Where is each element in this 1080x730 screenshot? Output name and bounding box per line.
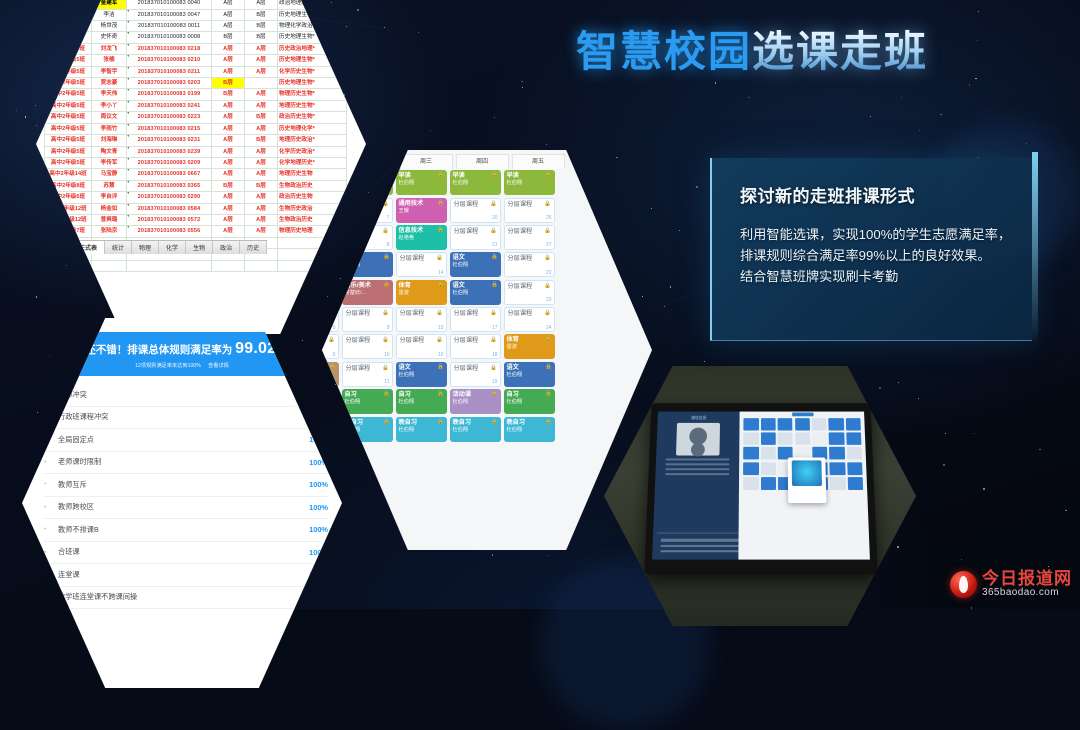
cell-id[interactable]: 201837010100083 0209 — [127, 157, 212, 168]
cell-math-level[interactable]: A层 — [212, 112, 245, 123]
rule-label: 连堂课 — [58, 570, 309, 580]
timetable-cell[interactable]: 自习杜伯翔🔒 — [504, 389, 555, 414]
cell-math-level[interactable]: A层 — [212, 214, 245, 225]
timetable-row: 🔒分层课程🔒11语文杜伯翔🔒分层课程🔒19语文杜伯翔🔒 — [322, 361, 652, 388]
cell-english-level[interactable]: A层 — [245, 0, 278, 9]
lock-icon[interactable]: 🔒 — [544, 283, 551, 289]
lock-icon[interactable]: 🔒 — [383, 282, 390, 288]
lock-icon[interactable]: 🔒 — [490, 337, 497, 343]
lock-icon[interactable]: 🔒 — [491, 419, 498, 425]
cell-id[interactable]: 201837010100083 0218 — [127, 43, 212, 54]
cell-english-level[interactable]: B层 — [245, 135, 278, 146]
student-photo-card — [829, 433, 844, 445]
timetable-cell[interactable]: 语文杜伯翔🔒 — [504, 362, 555, 387]
star-dot — [36, 125, 38, 127]
cell-math-level[interactable]: A层 — [212, 100, 245, 111]
timetable-cell-index: 14 — [438, 270, 444, 276]
bullet-icon: • — [44, 459, 58, 466]
timetable-cell[interactable]: 体育雷波🔒 — [504, 334, 555, 359]
lock-icon[interactable]: 🔒 — [383, 391, 390, 397]
satisfaction-subnote: 12项规则满足率未达到100% — [135, 363, 201, 369]
cell-math-level[interactable]: A层 — [212, 203, 245, 214]
cell-name[interactable]: 李雨竹 — [92, 123, 127, 134]
cell-id[interactable]: 201837010100083 0199 — [127, 89, 212, 100]
list-item[interactable]: •行政班课程冲突100% — [44, 407, 328, 430]
cell-english-level[interactable]: A层 — [245, 89, 278, 100]
lock-icon[interactable]: 🔒 — [490, 228, 497, 234]
bullet-icon: • — [44, 481, 58, 488]
timetable-cell[interactable]: 通用技术王娥🔒 — [396, 198, 447, 223]
cell-english-level[interactable]: A层 — [245, 55, 278, 66]
lock-icon[interactable]: 🔒 — [545, 336, 552, 342]
sheet-tab-生物[interactable]: 生物 — [186, 241, 213, 254]
cell-english-level[interactable]: B层 — [245, 112, 278, 123]
cell-id[interactable]: 201837010100083 0667 — [127, 169, 212, 180]
timetable-row: 晚自习杜伯翔🔒晚自习杜伯翔🔒晚自习杜伯翔🔒晚自习杜伯翔🔒晚自习杜伯翔🔒 — [322, 415, 652, 442]
cell-id[interactable]: 201837010100083 0241 — [127, 100, 212, 111]
table-row[interactable]: 高中2年级5班李传军201837010100083 0209A层A层化学地理历史… — [45, 157, 347, 168]
table-row[interactable]: 高中2年级8班苏慧201837010100083 0365B层B层生物政治历史 — [45, 180, 347, 191]
timetable-cell-teacher: 常楚欣/... — [345, 290, 390, 297]
cell-subject-selection[interactable]: 化学历史政治* — [278, 146, 347, 157]
timetable-cell-teacher: 雷波 — [399, 290, 444, 297]
student-detail-popup — [788, 457, 827, 503]
timetable-cell[interactable]: 早读杜伯翔🔒 — [396, 170, 447, 195]
timetable-cell[interactable]: 体育雷波🔒 — [396, 280, 447, 305]
cell-name[interactable]: 张楠 — [92, 55, 127, 66]
rule-label: 合班课 — [58, 547, 309, 557]
cell-name[interactable]: 杨世茂 — [92, 21, 127, 32]
timetable-cell-teacher: 杜伯翔 — [507, 427, 552, 434]
timetable-cell[interactable]: 分层课程🔒15 — [396, 307, 447, 332]
cell-id[interactable]: 201837010100083 0556 — [127, 226, 212, 237]
cell-name[interactable]: 张陆京 — [92, 226, 127, 237]
list-item[interactable]: •连堂课100% — [44, 564, 328, 587]
smart-board-screen: 课程信息 — [652, 412, 870, 560]
student-photo-card — [761, 477, 776, 490]
cell-class[interactable]: 高中2年级5班 — [45, 112, 92, 123]
panel-heading: 探讨新的走班排课形式 — [740, 182, 915, 207]
cell-math-level[interactable]: A层 — [212, 43, 245, 54]
list-item[interactable]: •教师冲突100% — [44, 384, 328, 407]
lock-icon[interactable]: 🔒 — [436, 310, 443, 316]
cell-math-level[interactable]: A层 — [212, 135, 245, 146]
cell-math-level[interactable]: A层 — [212, 146, 245, 157]
cell-english-level[interactable]: A层 — [245, 169, 278, 180]
star-dot — [546, 144, 547, 145]
lock-icon[interactable]: 🔒 — [491, 391, 498, 397]
timetable-cell[interactable]: 分层课程🔒18 — [450, 334, 501, 359]
cell-name[interactable]: 杨金如 — [92, 203, 127, 214]
student-photo-card — [846, 433, 861, 445]
student-photo-card — [744, 433, 759, 445]
cell-english-level[interactable]: A层 — [245, 214, 278, 225]
lock-icon[interactable]: 🔒 — [437, 172, 444, 178]
spreadsheet-body[interactable]: 高一年级1班宋旭201837010100083 0023A层A层历史地理生物*高… — [45, 0, 347, 271]
student-photo-card — [761, 418, 776, 430]
cell-subject-selection[interactable]: 地理历史生物* — [278, 100, 347, 111]
timetable-cell[interactable]: 分层课程🔒10 — [342, 334, 393, 359]
cell-empty[interactable] — [92, 260, 127, 271]
table-row[interactable]: 高中2年级7班张陆京201837010100083 0556A层A层物理历史地理 — [45, 226, 347, 237]
cell-math-level[interactable]: B层 — [212, 78, 245, 89]
cell-english-level[interactable] — [245, 78, 278, 89]
list-item[interactable]: •教师不排课B100% — [44, 519, 328, 542]
cell-subject-selection[interactable]: 化学地理历史* — [278, 157, 347, 168]
student-photo-card — [847, 462, 863, 475]
cell-id[interactable]: 201837010100083 0239 — [127, 146, 212, 157]
table-row[interactable]: 高中2年级5班周议文201837010100083 0223A层B层政治历史生物… — [45, 112, 347, 123]
lock-icon[interactable]: 🔒 — [382, 228, 389, 234]
timetable-cell[interactable]: 语文杜伯翔🔒 — [450, 280, 501, 305]
cell-id[interactable]: 201837010100083 0215 — [127, 123, 212, 134]
cell-english-level[interactable]: A层 — [245, 43, 278, 54]
cell-id[interactable]: 201837010100083 0008 — [127, 32, 212, 43]
timetable-cell-teacher: 杜伯翔 — [453, 180, 498, 187]
rule-value: 100% — [309, 525, 328, 534]
roster-tab-header — [792, 413, 813, 417]
cell-subject-selection[interactable]: 政治历史生物* — [278, 112, 347, 123]
cell-class[interactable]: 高中2年级5班 — [45, 135, 92, 146]
rule-value: 100% — [309, 503, 328, 512]
cell-english-level[interactable]: A层 — [245, 123, 278, 134]
timetable-cell[interactable]: 分层课程🔒17 — [450, 307, 501, 332]
lock-icon[interactable]: 🔒 — [437, 282, 444, 288]
cell-id[interactable]: 201837010100083 0210 — [127, 55, 212, 66]
cell-math-level[interactable]: A层 — [212, 9, 245, 20]
cell-empty[interactable] — [212, 260, 245, 271]
cell-subject-selection[interactable]: 地理历史生物 — [278, 169, 347, 180]
spreadsheet-table[interactable]: 科、数学英语选层 班级 姓名 学籍号/教职工编号 数学分层 英语分层 6选3 高… — [44, 0, 347, 272]
cell-name[interactable]: 曾爽璐 — [92, 214, 127, 225]
sheet-tab-统计[interactable]: 统计 — [105, 241, 132, 254]
timetable-cell-index: 11 — [384, 379, 389, 385]
cell-english-level[interactable]: B层 — [245, 32, 278, 43]
cell-subject-selection[interactable]: 历史地理生物* — [278, 78, 347, 89]
lock-icon[interactable]: 🔒 — [545, 391, 552, 397]
timetable-cell-teacher: 雷波 — [507, 344, 552, 351]
lock-icon[interactable]: 🔒 — [436, 337, 443, 343]
table-row[interactable]: 高一年级1班史怀奇201837010100083 0008B层B层历史地理生物* — [45, 32, 347, 43]
table-row[interactable]: 高中2年级5班李天伟201837010100083 0199B层A层物理历史生物… — [45, 89, 347, 100]
cell-math-level[interactable]: A层 — [212, 66, 245, 77]
timetable-cell[interactable]: 分层课程🔒9 — [342, 307, 393, 332]
cell-english-level[interactable]: A层 — [245, 192, 278, 203]
timetable-cell[interactable]: 分层课程🔒11 — [342, 362, 393, 387]
rule-label: 教学班连堂课不跨课间操 — [58, 592, 309, 602]
spreadsheet[interactable]: 科、数学英语选层 班级 姓名 学籍号/教职工编号 数学分层 英语分层 6选3 高… — [44, 0, 366, 272]
lock-icon[interactable]: 🔒 — [437, 419, 444, 425]
cell-english-level[interactable]: B层 — [245, 21, 278, 32]
timetable-cell-teacher: 杜伯翔 — [453, 427, 498, 434]
cell-name[interactable]: 李天伟 — [92, 89, 127, 100]
rule-label: 教师跨校区 — [58, 502, 309, 512]
cell-id[interactable]: 201837010100083 0584 — [127, 203, 212, 214]
cell-math-level[interactable]: A层 — [212, 123, 245, 134]
cell-id[interactable]: 201837010100083 0011 — [127, 21, 212, 32]
rule-label: 教师冲突 — [58, 390, 309, 400]
star-dot — [670, 286, 672, 288]
table-row[interactable]: 高中2年级12班杨金如201837010100083 0584A层A层生物历史政… — [45, 203, 347, 214]
table-row[interactable]: 高中2年级5班李小丫201837010100083 0241A层A层地理历史生物… — [45, 100, 347, 111]
cell-math-level[interactable]: A层 — [212, 192, 245, 203]
timetable-cell-index: 23 — [546, 297, 552, 303]
timetable-cell[interactable]: 早读杜伯翔🔒 — [450, 170, 501, 195]
satisfaction-rule-list[interactable]: •教师冲突100%•行政班课程冲突100%•全局固定点100%•老师课时限制10… — [44, 384, 328, 609]
smart-board-screen-title: 课程信息 — [661, 415, 736, 421]
lock-icon[interactable]: 🔒 — [437, 227, 444, 233]
cell-english-level[interactable]: A层 — [245, 157, 278, 168]
lock-icon[interactable]: 🔒 — [382, 365, 389, 371]
timetable-cell-index: 8 — [387, 242, 390, 248]
lock-icon[interactable]: 🔒 — [491, 172, 498, 178]
cell-name[interactable]: 马宝静 — [92, 169, 127, 180]
cell-name[interactable]: 史怀奇 — [92, 32, 127, 43]
list-item[interactable]: •老师课时限制100% — [44, 452, 328, 475]
table-row[interactable]: 高中2年级5班张楠201837010100083 0210A层A层历史地理生物* — [45, 55, 347, 66]
rule-label: 行政班课程冲突 — [58, 412, 309, 422]
table-row[interactable]: 高中2年级5班李雨竹201837010100083 0215A层A层历史地理化学… — [45, 123, 347, 134]
watermark-flame-icon — [950, 571, 977, 598]
timetable-cell[interactable]: 分层课程🔒20 — [450, 198, 501, 223]
bullet-icon: • — [44, 504, 58, 511]
lock-icon[interactable]: 🔒 — [437, 364, 444, 370]
lock-icon[interactable]: 🔒 — [545, 364, 552, 370]
star-dot — [977, 40, 978, 41]
satisfaction-detail-link[interactable]: 查看详情 — [208, 363, 229, 369]
list-item[interactable]: •教师互斥100% — [44, 474, 328, 497]
lock-icon[interactable]: 🔒 — [382, 310, 389, 316]
table-row[interactable]: 高中2年级5班刘龙飞201837010100083 0218A层A层历史政治地理… — [45, 43, 347, 54]
sheet-tab-政治[interactable]: 政治 — [213, 241, 240, 254]
cell-id[interactable]: 201837010100083 0223 — [127, 112, 212, 123]
cell-id[interactable]: 201837010100083 0047 — [127, 9, 212, 20]
timetable-cell-teacher: 杜伯翔 — [507, 180, 552, 187]
lock-icon[interactable]: 🔒 — [490, 365, 497, 371]
timetable-cell-index: 19 — [492, 379, 498, 385]
timetable-cell-index: 27 — [546, 242, 552, 248]
star-dot — [357, 9, 359, 11]
star-dot — [704, 361, 705, 362]
lock-icon[interactable]: 🔒 — [329, 364, 336, 370]
lock-icon[interactable]: 🔒 — [545, 172, 552, 178]
lock-icon[interactable]: 🔒 — [491, 282, 498, 288]
star-dot — [340, 278, 341, 279]
student-photo-card — [778, 418, 793, 430]
student-photo-card — [743, 447, 758, 460]
cell-name[interactable]: 李自评 — [92, 192, 127, 203]
cell-name[interactable]: 陶文青 — [92, 146, 127, 157]
cell-id[interactable]: 201837010100083 0231 — [127, 135, 212, 146]
cell-name[interactable]: 李传军 — [92, 157, 127, 168]
cell-name[interactable]: 李小丫 — [92, 100, 127, 111]
cell-name[interactable]: 李洁 — [92, 9, 127, 20]
timetable-cell[interactable]: 语文杜伯翔🔒 — [450, 252, 501, 277]
timetable-cell[interactable]: 分层课程🔒23 — [504, 280, 555, 305]
cell-id[interactable]: 201837010100083 0290 — [127, 192, 212, 203]
student-photo-card — [829, 447, 844, 460]
timetable-cell-teacher: 赵艳艳 — [399, 235, 444, 242]
cell-math-level[interactable]: A层 — [212, 169, 245, 180]
sheet-tab-历史[interactable]: 历史 — [240, 241, 267, 254]
timetable-cell-teacher: 杜伯翔 — [399, 180, 444, 187]
lock-icon[interactable]: 🔒 — [545, 419, 552, 425]
star-dot — [945, 433, 946, 434]
cell-math-level[interactable]: A层 — [212, 55, 245, 66]
table-row[interactable]: 高中2年级5班陶文青201837010100083 0239A层A层化学历史政治… — [45, 146, 347, 157]
table-row[interactable]: 高中2年级5班李智宇201837010100083 0211A层A层化学历史生物… — [45, 66, 347, 77]
cell-name[interactable]: 李智宇 — [92, 66, 127, 77]
lock-icon[interactable]: 🔒 — [436, 255, 443, 261]
cell-english-level[interactable]: B层 — [245, 180, 278, 191]
lock-icon[interactable]: 🔒 — [490, 201, 497, 207]
star-dot — [978, 11, 979, 12]
lock-icon[interactable]: 🔒 — [544, 310, 551, 316]
cell-id[interactable]: 201837010100083 0203 — [127, 78, 212, 89]
star-dot — [696, 186, 698, 188]
cell-name[interactable]: 刘龙飞 — [92, 43, 127, 54]
student-photo-card — [743, 462, 758, 475]
cell-subject-selection[interactable]: 历史地理化学* — [278, 123, 347, 134]
page-title: 智慧校园选课走班 — [576, 18, 928, 79]
cell-math-level[interactable]: B层 — [212, 89, 245, 100]
table-row[interactable]: 高中2年级5班贾志豪201837010100083 0203B层历史地理生物* — [45, 78, 347, 89]
timetable-cell[interactable]: 语文杜伯翔🔒 — [396, 362, 447, 387]
list-item[interactable]: •全局固定点100% — [44, 429, 328, 452]
cell-math-level[interactable]: A层 — [212, 21, 245, 32]
lock-icon[interactable]: 🔒 — [382, 337, 389, 343]
sheet-tab-物理[interactable]: 物理 — [132, 241, 159, 254]
cell-name[interactable]: 刘海琳 — [92, 135, 127, 146]
cell-id[interactable]: 201837010100083 0211 — [127, 66, 212, 77]
lock-icon[interactable]: 🔒 — [544, 255, 551, 261]
lock-icon[interactable]: 🔒 — [490, 310, 497, 316]
lock-icon[interactable]: 🔒 — [437, 391, 444, 397]
cell-id[interactable]: 201837010100083 0365 — [127, 180, 212, 191]
cell-subject-selection[interactable]: 地理历史政治* — [278, 135, 347, 146]
table-row[interactable]: 高中2年级5班刘海琳201837010100083 0231A层B层地理历史政治… — [45, 135, 347, 146]
cell-english-level[interactable]: A层 — [245, 66, 278, 77]
star-dot — [418, 32, 419, 33]
cell-empty[interactable] — [127, 260, 212, 271]
timetable-row: 分层课程🔒4音乐/美术常楚欣/...🔒体育雷波🔒语文杜伯翔🔒分层课程🔒23 — [322, 279, 652, 306]
cell-english-level[interactable]: A层 — [245, 146, 278, 157]
cell-math-level[interactable]: A层 — [212, 157, 245, 168]
star-dot — [642, 296, 643, 297]
cell-math-level[interactable]: A层 — [212, 0, 245, 9]
cell-subject-selection[interactable]: 物理历史生物* — [278, 89, 347, 100]
sheet-tab-化学[interactable]: 化学 — [159, 241, 186, 254]
student-photo-card — [795, 433, 810, 445]
star-dot — [521, 81, 522, 82]
cell-class[interactable]: 高中2年级5班 — [45, 146, 92, 157]
star-dot — [983, 488, 985, 490]
star-dot — [492, 554, 493, 555]
cell-english-level[interactable]: A层 — [245, 226, 278, 237]
cell-name[interactable]: 贾志豪 — [92, 78, 127, 89]
timetable-cell-teacher: 杜伯翔 — [453, 399, 498, 406]
timetable-cell[interactable]: 自习杜伯翔🔒 — [396, 389, 447, 414]
cell-math-level[interactable]: A层 — [212, 226, 245, 237]
lock-icon[interactable]: 🔒 — [383, 254, 390, 260]
lock-icon[interactable]: 🔒 — [544, 201, 551, 207]
timetable-cell[interactable]: 分层课程🔒19 — [450, 362, 501, 387]
cell-english-level[interactable]: A层 — [245, 203, 278, 214]
timetable-cell[interactable]: 晚自习杜伯翔🔒 — [504, 417, 555, 442]
timetable-cell[interactable]: 分层课程🔒24 — [504, 307, 555, 332]
timetable-cell-index: 5 — [333, 325, 336, 331]
table-row[interactable]: 高中2年级12班曾爽璐201837010100083 0572A层A层生物政治历… — [45, 214, 347, 225]
timetable-cell[interactable]: 自习杜伯翔🔒 — [342, 389, 393, 414]
cell-class[interactable]: 高中2年级5班 — [45, 157, 92, 168]
student-photo-card — [846, 418, 861, 430]
timetable-cell[interactable]: 晚自习杜伯翔🔒 — [450, 417, 501, 442]
star-dot — [25, 116, 27, 118]
student-meta-lines — [659, 458, 735, 475]
timetable-cell[interactable]: 信息技术赵艳艳🔒 — [396, 225, 447, 250]
cell-subject-selection[interactable]: 生物政治历史 — [278, 180, 347, 191]
table-row[interactable]: 高中2年级6班李自评201837010100083 0290A层A层政治历史生物 — [45, 192, 347, 203]
cell-name[interactable]: 周议文 — [92, 112, 127, 123]
timetable-cell[interactable]: 早读杜伯翔🔒 — [504, 170, 555, 195]
cell-subject-selection[interactable]: 政治历史生物 — [278, 192, 347, 203]
timetable-cell-index: 20 — [492, 215, 498, 221]
panel-body-line: 利用智能选课，实现100%的学生志愿满足率，排课规则综合满足率99%以上的良好效… — [740, 224, 1014, 266]
student-photo-card — [795, 418, 810, 430]
star-dot — [651, 208, 652, 209]
lock-icon[interactable]: 🔒 — [328, 337, 335, 343]
timetable-cell[interactable]: 活动课杜伯翔🔒 — [450, 389, 501, 414]
timetable-cell[interactable]: 分层课程🔒14 — [396, 252, 447, 277]
timetable-cell[interactable]: 分层课程🔒22 — [504, 252, 555, 277]
cell-english-level[interactable]: B层 — [245, 9, 278, 20]
cell-math-level[interactable]: B层 — [212, 180, 245, 191]
star-dot — [940, 114, 941, 115]
panel-accent-bar — [1032, 152, 1038, 346]
timetable-row: 分层课程🔒5分层课程🔒9分层课程🔒15分层课程🔒17分层课程🔒24 — [322, 306, 652, 333]
timetable-cell-index: 18 — [492, 352, 498, 358]
cell-english-level[interactable]: A层 — [245, 100, 278, 111]
cell-id[interactable]: 201837010100083 0040 — [127, 0, 212, 9]
cell-empty[interactable] — [245, 260, 278, 271]
student-photo-card — [847, 477, 863, 490]
timetable-cell[interactable]: 分层课程🔒16 — [396, 334, 447, 359]
timetable-cell-index: 26 — [546, 215, 552, 221]
timetable-cell[interactable]: 分层课程🔒21 — [450, 225, 501, 250]
sheet-tab-bar[interactable]: 正式表统计物理化学生物政治历史 — [72, 240, 267, 254]
timetable-cell[interactable]: 晚自习杜伯翔🔒 — [396, 417, 447, 442]
table-row[interactable]: 高中2年级14班马宝静201837010100083 0667A层A层地理历史生… — [45, 169, 347, 180]
list-item[interactable]: •教学班连堂课不跨课间操100% — [44, 587, 328, 610]
timetable-cell[interactable]: 分层课程🔒26 — [504, 198, 555, 223]
cell-name[interactable]: 苏慧 — [92, 180, 127, 191]
list-item[interactable]: •教师跨校区100% — [44, 497, 328, 520]
cell-class[interactable]: 高中2年级5班 — [45, 123, 92, 134]
lock-icon[interactable]: 🔒 — [544, 228, 551, 234]
star-dot — [1065, 510, 1066, 511]
timetable-cell-teacher: 杜伯翔 — [507, 372, 552, 379]
star-dot — [898, 382, 900, 384]
list-item[interactable]: •合班课100% — [44, 542, 328, 565]
lock-icon[interactable]: 🔒 — [383, 419, 390, 425]
lock-icon[interactable]: 🔒 — [491, 254, 498, 260]
cell-id[interactable]: 201837010100083 0572 — [127, 214, 212, 225]
star-dot — [664, 306, 665, 307]
star-dot — [974, 433, 975, 434]
cell-math-level[interactable]: B层 — [212, 32, 245, 43]
lock-icon[interactable]: 🔒 — [437, 200, 444, 206]
timetable-cell[interactable]: 分层课程🔒27 — [504, 225, 555, 250]
